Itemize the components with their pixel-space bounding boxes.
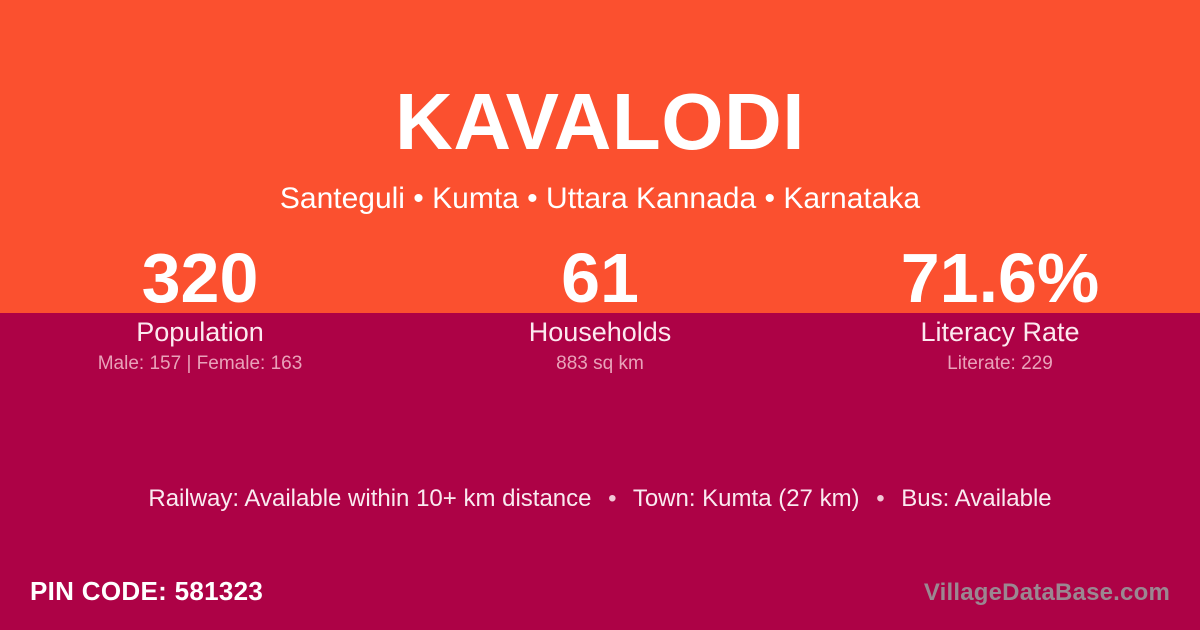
stat-label-households: Households	[400, 317, 800, 348]
stat-sub-population: Male: 157 | Female: 163	[0, 353, 400, 375]
amenities-line: Railway: Available within 10+ km distanc…	[0, 484, 1200, 514]
stats-row: 320 Population Male: 157 | Female: 163 6…	[0, 244, 1200, 375]
page-title: KAVALODI	[0, 82, 1200, 162]
amenity-separator-1: •	[598, 484, 626, 514]
stat-sub-literacy-rate: Literate: 229	[800, 353, 1200, 375]
stat-households: 61 Households 883 sq km	[400, 244, 800, 375]
stat-value-population: 320	[0, 244, 400, 312]
site-watermark: VillageDataBase.com	[924, 578, 1170, 608]
stat-population: 320 Population Male: 157 | Female: 163	[0, 244, 400, 375]
stat-value-literacy-rate: 71.6%	[800, 244, 1200, 312]
amenity-town: Town: Kumta (27 km)	[633, 485, 860, 512]
stat-label-literacy-rate: Literacy Rate	[800, 317, 1200, 348]
pin-code: PIN CODE: 581323	[30, 576, 263, 606]
village-info-card: KAVALODI Santeguli • Kumta • Uttara Kann…	[0, 0, 1200, 630]
amenity-railway: Railway: Available within 10+ km distanc…	[148, 485, 591, 512]
stat-literacy-rate: 71.6% Literacy Rate Literate: 229	[800, 244, 1200, 375]
stat-sub-households: 883 sq km	[400, 353, 800, 375]
stat-label-population: Population	[0, 317, 400, 348]
amenity-bus: Bus: Available	[901, 485, 1051, 512]
stat-value-households: 61	[400, 244, 800, 312]
location-breadcrumb: Santeguli • Kumta • Uttara Kannada • Kar…	[0, 181, 1200, 217]
amenity-separator-2: •	[866, 484, 894, 514]
